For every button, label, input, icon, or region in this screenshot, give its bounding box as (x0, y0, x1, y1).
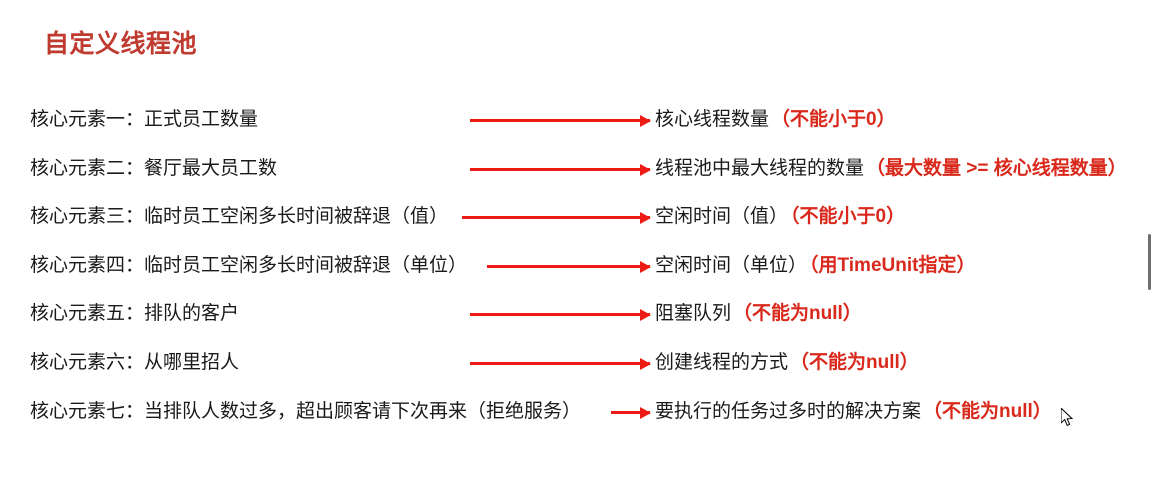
row-constraint-note: （最大数量 >= 核心线程数量） (866, 158, 1127, 179)
vertical-scrollbar-track[interactable] (1148, 0, 1154, 493)
slide-canvas: 自定义线程池 核心元素一：正式员工数量核心线程数量（不能小于0）核心元素二：餐厅… (0, 0, 1154, 493)
right-arrow-icon (611, 411, 650, 414)
mapping-row: 核心元素六：从哪里招人创建线程的方式（不能为null） (0, 346, 1154, 380)
row-left-label: 核心元素二：餐厅最大员工数 (30, 152, 277, 186)
row-right-label-group: 要执行的任务过多时的解决方案（不能为null） (655, 395, 1052, 429)
row-right-label-group: 创建线程的方式（不能为null） (655, 346, 919, 380)
row-constraint-note: （不能为null） (733, 303, 862, 324)
row-left-label: 核心元素五：排队的客户 (30, 297, 239, 331)
mapping-row: 核心元素七：当排队人数过多，超出顾客请下次再来（拒绝服务）要执行的任务过多时的解… (0, 395, 1154, 429)
right-arrow-icon (470, 313, 650, 316)
row-left-label: 核心元素三：临时员工空闲多长时间被辞退（值） (30, 200, 448, 234)
right-arrow-icon (470, 168, 650, 171)
row-left-label: 核心元素一：正式员工数量 (30, 103, 258, 137)
row-right-label: 核心线程数量 (655, 109, 769, 130)
mapping-row: 核心元素四：临时员工空闲多长时间被辞退（单位）空闲时间（单位）（用TimeUni… (0, 249, 1154, 283)
row-right-label-group: 空闲时间（单位）（用TimeUnit指定） (655, 249, 975, 283)
row-right-label: 线程池中最大线程的数量 (655, 158, 864, 179)
row-constraint-note: （不能小于0） (790, 206, 905, 227)
right-arrow-icon (470, 362, 650, 365)
row-left-label: 核心元素七：当排队人数过多，超出顾客请下次再来（拒绝服务） (30, 395, 581, 429)
row-constraint-note: （不能为null） (923, 401, 1052, 422)
vertical-scrollbar-thumb[interactable] (1148, 234, 1151, 290)
row-right-label-group: 空闲时间（值）（不能小于0） (655, 200, 905, 234)
row-right-label: 创建线程的方式 (655, 352, 788, 373)
row-constraint-note: （不能小于0） (771, 109, 896, 130)
row-right-label-group: 核心线程数量（不能小于0） (655, 103, 896, 137)
row-right-label-group: 线程池中最大线程的数量（最大数量 >= 核心线程数量） (655, 152, 1127, 186)
row-left-label: 核心元素四：临时员工空闲多长时间被辞退（单位） (30, 249, 467, 283)
row-right-label: 阻塞队列 (655, 303, 731, 324)
row-right-label: 空闲时间（单位） (655, 255, 807, 276)
page-title: 自定义线程池 (44, 24, 197, 60)
mapping-row: 核心元素三：临时员工空闲多长时间被辞退（值）空闲时间（值）（不能小于0） (0, 200, 1154, 234)
mapping-row: 核心元素二：餐厅最大员工数线程池中最大线程的数量（最大数量 >= 核心线程数量） (0, 152, 1154, 186)
row-constraint-note: （用TimeUnit指定） (809, 255, 975, 276)
row-right-label-group: 阻塞队列（不能为null） (655, 297, 862, 331)
mapping-row: 核心元素一：正式员工数量核心线程数量（不能小于0） (0, 103, 1154, 137)
right-arrow-icon (487, 265, 650, 268)
row-left-label: 核心元素六：从哪里招人 (30, 346, 239, 380)
mapping-row: 核心元素五：排队的客户阻塞队列（不能为null） (0, 297, 1154, 331)
right-arrow-icon (462, 216, 650, 219)
row-constraint-note: （不能为null） (790, 352, 919, 373)
right-arrow-icon (470, 119, 650, 122)
row-right-label: 要执行的任务过多时的解决方案 (655, 401, 921, 422)
row-right-label: 空闲时间（值） (655, 206, 788, 227)
